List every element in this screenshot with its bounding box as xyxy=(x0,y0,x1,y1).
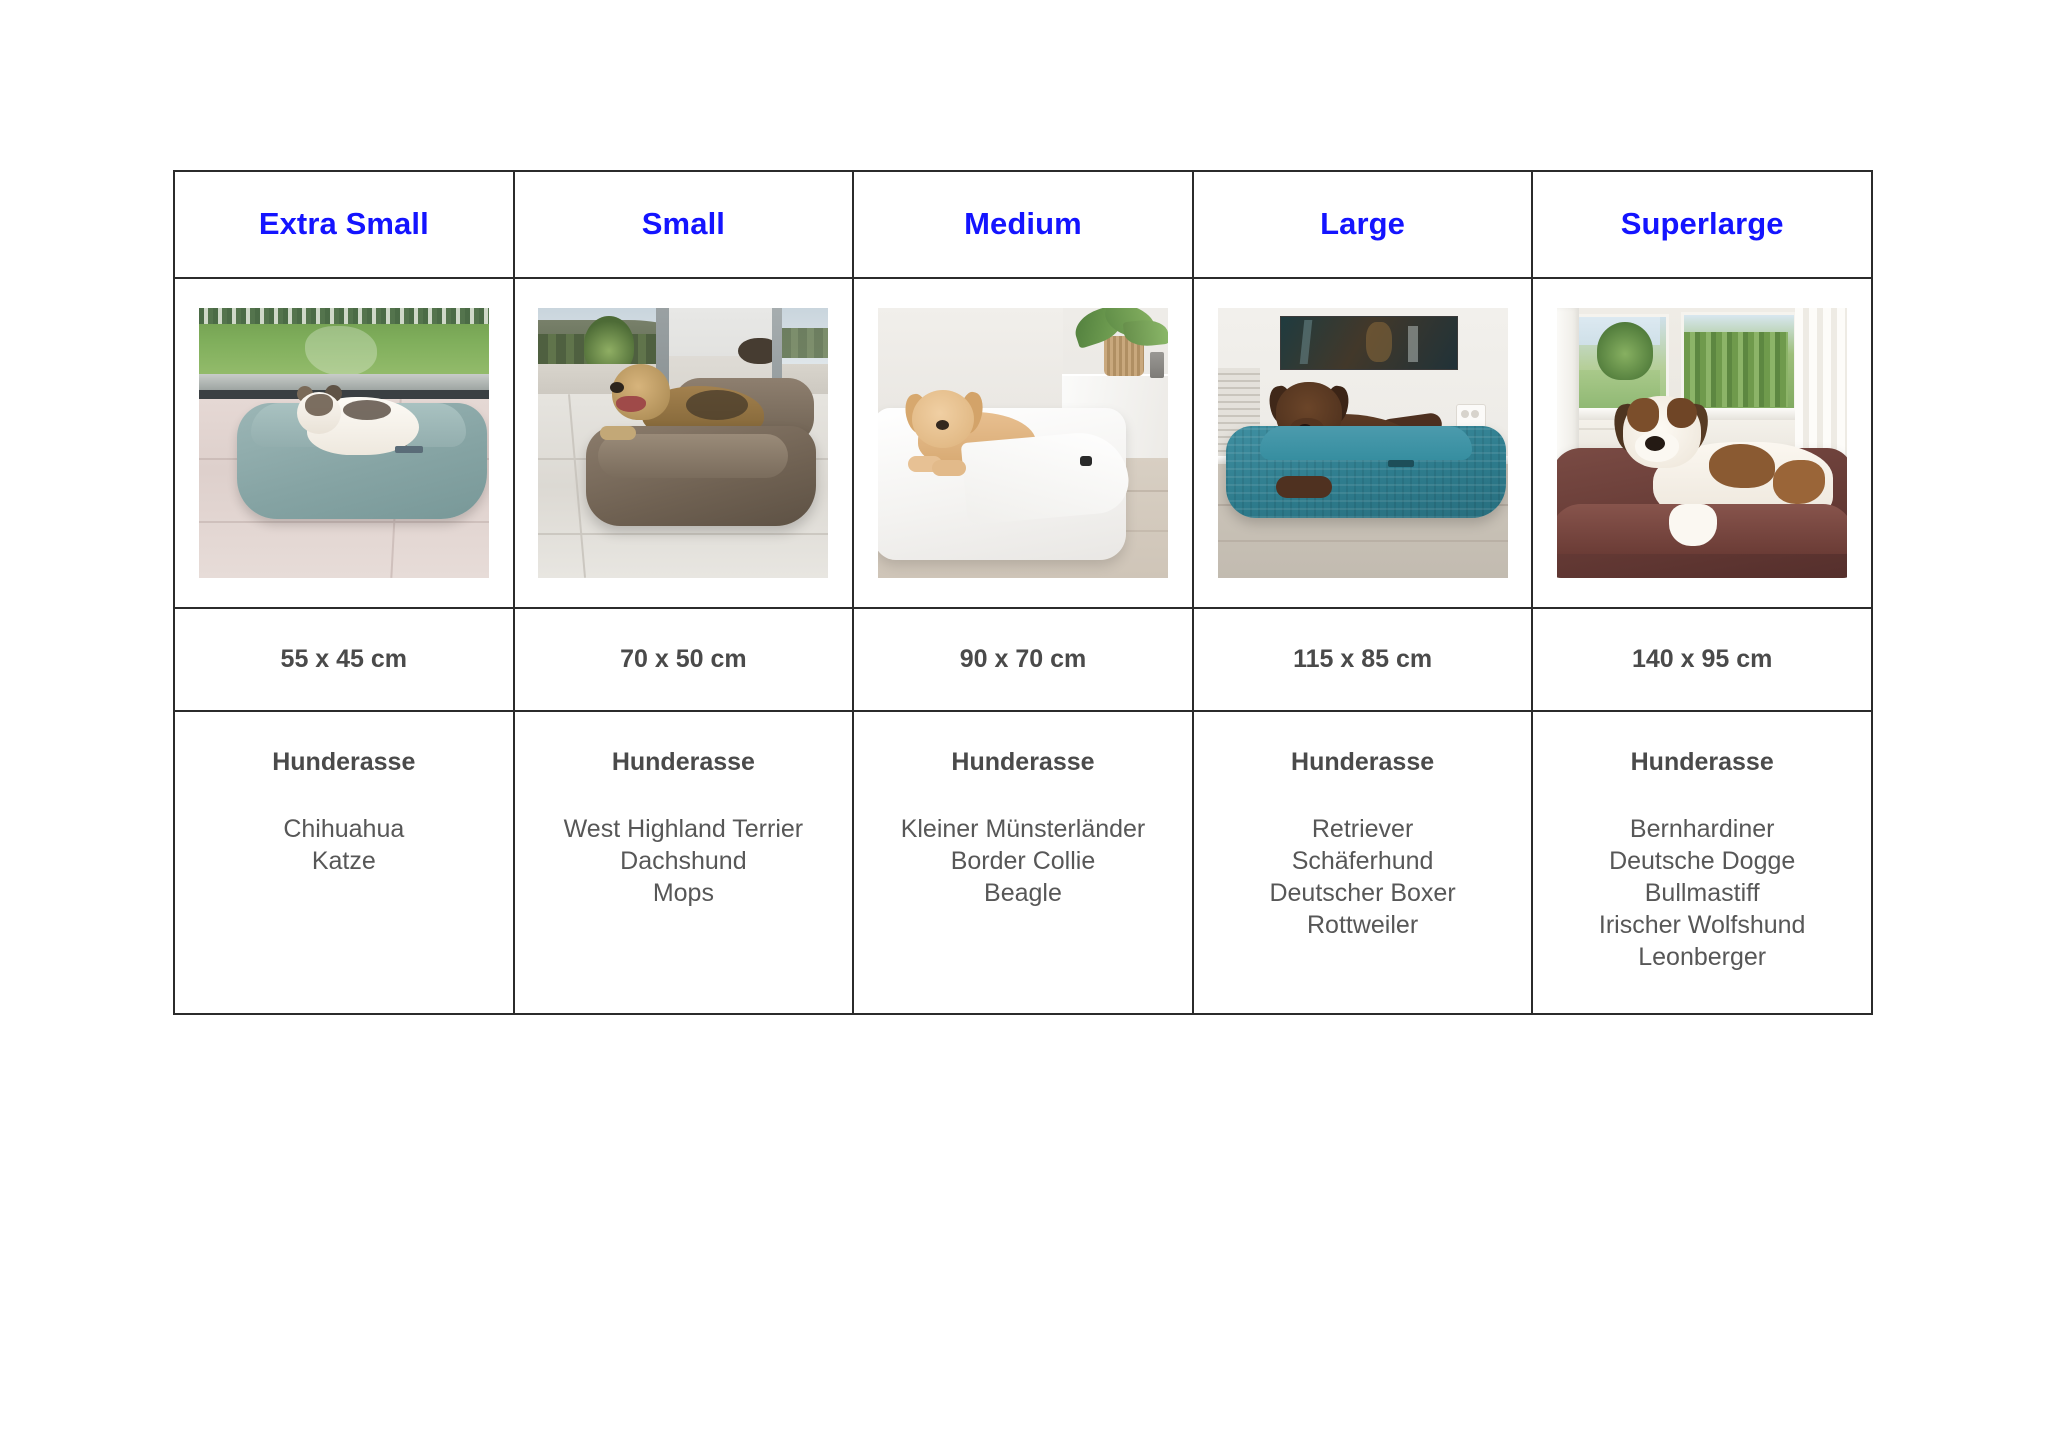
list-item: Bernhardiner xyxy=(1533,813,1871,845)
size-label-small: Small xyxy=(515,207,853,241)
breeds-block-small: Hunderasse West Highland Terrier Dachshu… xyxy=(515,712,853,909)
table-row-dimensions: 55 x 45 cm 70 x 50 cm 90 x 70 cm 115 x 8… xyxy=(174,608,1872,711)
list-item: Dachshund xyxy=(515,845,853,877)
table-row-photos xyxy=(174,278,1872,608)
list-item: Leonberger xyxy=(1533,941,1871,973)
cell-dimensions-large: 115 x 85 cm xyxy=(1193,608,1533,711)
photo-cat-on-sage-dog-bed xyxy=(199,308,489,578)
cell-breeds-large: Hunderasse Retriever Schäferhund Deutsch… xyxy=(1193,711,1533,1014)
photo-wrap-large xyxy=(1194,279,1532,607)
list-item: Katze xyxy=(175,845,513,877)
cell-header-medium: Medium xyxy=(853,171,1193,278)
photo-cockapoo-on-white-dog-bed xyxy=(878,308,1168,578)
cell-header-small: Small xyxy=(514,171,854,278)
document-page: Extra Small Small Medium Large Superlarg… xyxy=(0,0,2048,1448)
cell-dimensions-medium: 90 x 70 cm xyxy=(853,608,1193,711)
list-item: Irischer Wolfshund xyxy=(1533,909,1871,941)
breeds-list-extra-small: Chihuahua Katze xyxy=(175,813,513,877)
cell-photo-extra-small xyxy=(174,278,514,608)
cell-photo-large xyxy=(1193,278,1533,608)
breeds-block-superlarge: Hunderasse Bernhardiner Deutsche Dogge B… xyxy=(1533,712,1871,973)
list-item: Rottweiler xyxy=(1194,909,1532,941)
breeds-list-large: Retriever Schäferhund Deutscher Boxer Ro… xyxy=(1194,813,1532,941)
photo-wrap-superlarge xyxy=(1533,279,1871,607)
list-item: Border Collie xyxy=(854,845,1192,877)
photo-terrier-on-brown-leather-dog-bed xyxy=(538,308,828,578)
dimensions-medium: 90 x 70 cm xyxy=(854,645,1192,674)
breeds-title-superlarge: Hunderasse xyxy=(1533,748,1871,777)
cell-header-superlarge: Superlarge xyxy=(1532,171,1872,278)
cell-photo-superlarge xyxy=(1532,278,1872,608)
list-item: Deutsche Dogge xyxy=(1533,845,1871,877)
cell-photo-small xyxy=(514,278,854,608)
cell-header-extra-small: Extra Small xyxy=(174,171,514,278)
cell-header-large: Large xyxy=(1193,171,1533,278)
dimensions-superlarge: 140 x 95 cm xyxy=(1533,645,1871,674)
photo-wrap-medium xyxy=(854,279,1192,607)
dog-bed-size-table: Extra Small Small Medium Large Superlarg… xyxy=(173,170,1873,1015)
list-item: Beagle xyxy=(854,877,1192,909)
dimensions-small: 70 x 50 cm xyxy=(515,645,853,674)
breeds-list-small: West Highland Terrier Dachshund Mops xyxy=(515,813,853,909)
photo-chocolate-labrador-on-teal-dog-bed xyxy=(1218,308,1508,578)
breeds-title-extra-small: Hunderasse xyxy=(175,748,513,777)
breeds-title-medium: Hunderasse xyxy=(854,748,1192,777)
cell-breeds-medium: Hunderasse Kleiner Münsterländer Border … xyxy=(853,711,1193,1014)
table-row-size-headers: Extra Small Small Medium Large Superlarg… xyxy=(174,171,1872,278)
list-item: West Highland Terrier xyxy=(515,813,853,845)
size-label-large: Large xyxy=(1194,207,1532,241)
list-item: Retriever xyxy=(1194,813,1532,845)
breeds-block-large: Hunderasse Retriever Schäferhund Deutsch… xyxy=(1194,712,1532,941)
list-item: Schäferhund xyxy=(1194,845,1532,877)
size-label-extra-small: Extra Small xyxy=(175,207,513,241)
breeds-list-medium: Kleiner Münsterländer Border Collie Beag… xyxy=(854,813,1192,909)
cell-breeds-extra-small: Hunderasse Chihuahua Katze xyxy=(174,711,514,1014)
photo-wrap-extra-small xyxy=(175,279,513,607)
cell-photo-medium xyxy=(853,278,1193,608)
list-item: Bullmastiff xyxy=(1533,877,1871,909)
table-row-breeds: Hunderasse Chihuahua Katze Hunderasse We… xyxy=(174,711,1872,1014)
breeds-block-extra-small: Hunderasse Chihuahua Katze xyxy=(175,712,513,877)
breeds-list-superlarge: Bernhardiner Deutsche Dogge Bullmastiff … xyxy=(1533,813,1871,973)
cell-dimensions-small: 70 x 50 cm xyxy=(514,608,854,711)
list-item: Deutscher Boxer xyxy=(1194,877,1532,909)
photo-wrap-small xyxy=(515,279,853,607)
list-item: Chihuahua xyxy=(175,813,513,845)
breeds-title-small: Hunderasse xyxy=(515,748,853,777)
cell-breeds-superlarge: Hunderasse Bernhardiner Deutsche Dogge B… xyxy=(1532,711,1872,1014)
list-item: Mops xyxy=(515,877,853,909)
cell-dimensions-extra-small: 55 x 45 cm xyxy=(174,608,514,711)
cell-dimensions-superlarge: 140 x 95 cm xyxy=(1532,608,1872,711)
breeds-block-medium: Hunderasse Kleiner Münsterländer Border … xyxy=(854,712,1192,909)
breeds-title-large: Hunderasse xyxy=(1194,748,1532,777)
photo-saint-bernard-on-burgundy-dog-bed xyxy=(1557,308,1847,578)
list-item: Kleiner Münsterländer xyxy=(854,813,1192,845)
cell-breeds-small: Hunderasse West Highland Terrier Dachshu… xyxy=(514,711,854,1014)
size-label-superlarge: Superlarge xyxy=(1533,207,1871,241)
size-label-medium: Medium xyxy=(854,207,1192,241)
dimensions-large: 115 x 85 cm xyxy=(1194,645,1532,674)
dimensions-extra-small: 55 x 45 cm xyxy=(175,645,513,674)
